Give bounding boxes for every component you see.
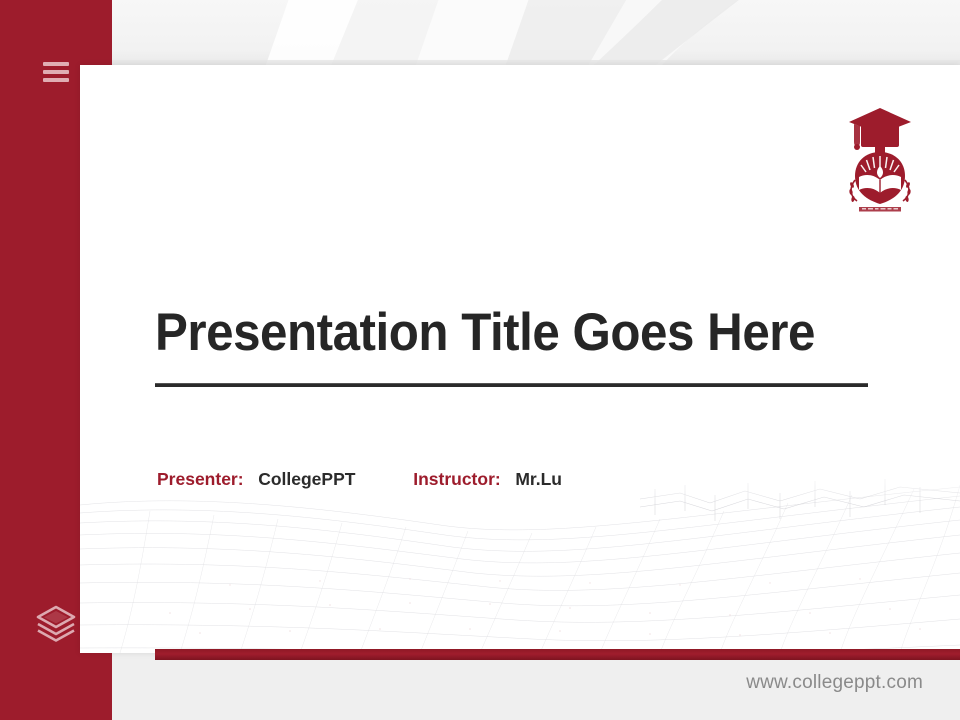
hamburger-bar <box>43 78 69 82</box>
ribbon-curves-graphic <box>112 0 960 66</box>
instructor-value: Mr.Lu <box>515 469 562 489</box>
instructor-label: Instructor: <box>413 469 501 489</box>
footer-website-url: www.collegeppt.com <box>746 672 923 694</box>
presenter-instructor-row: Presenter: CollegePPT Instructor: Mr.Lu <box>157 469 562 490</box>
page-title: Presentation Title Goes Here <box>155 305 820 361</box>
title-block: Presentation Title Goes Here <box>155 305 870 387</box>
presenter-label: Presenter: <box>157 469 244 489</box>
title-underline-rule <box>155 383 868 387</box>
presenter-value: CollegePPT <box>258 469 355 489</box>
university-crest-logo <box>845 100 915 215</box>
presentation-slide: Presentation Title Goes Here Presenter: … <box>0 0 960 720</box>
wireframe-mesh-graphic <box>80 463 960 653</box>
hamburger-bar <box>43 70 69 74</box>
top-decorative-band <box>112 0 960 66</box>
slide-content-card: Presentation Title Goes Here Presenter: … <box>80 65 960 653</box>
hamburger-bar <box>43 62 69 66</box>
bottom-red-accent-bar <box>155 649 960 660</box>
